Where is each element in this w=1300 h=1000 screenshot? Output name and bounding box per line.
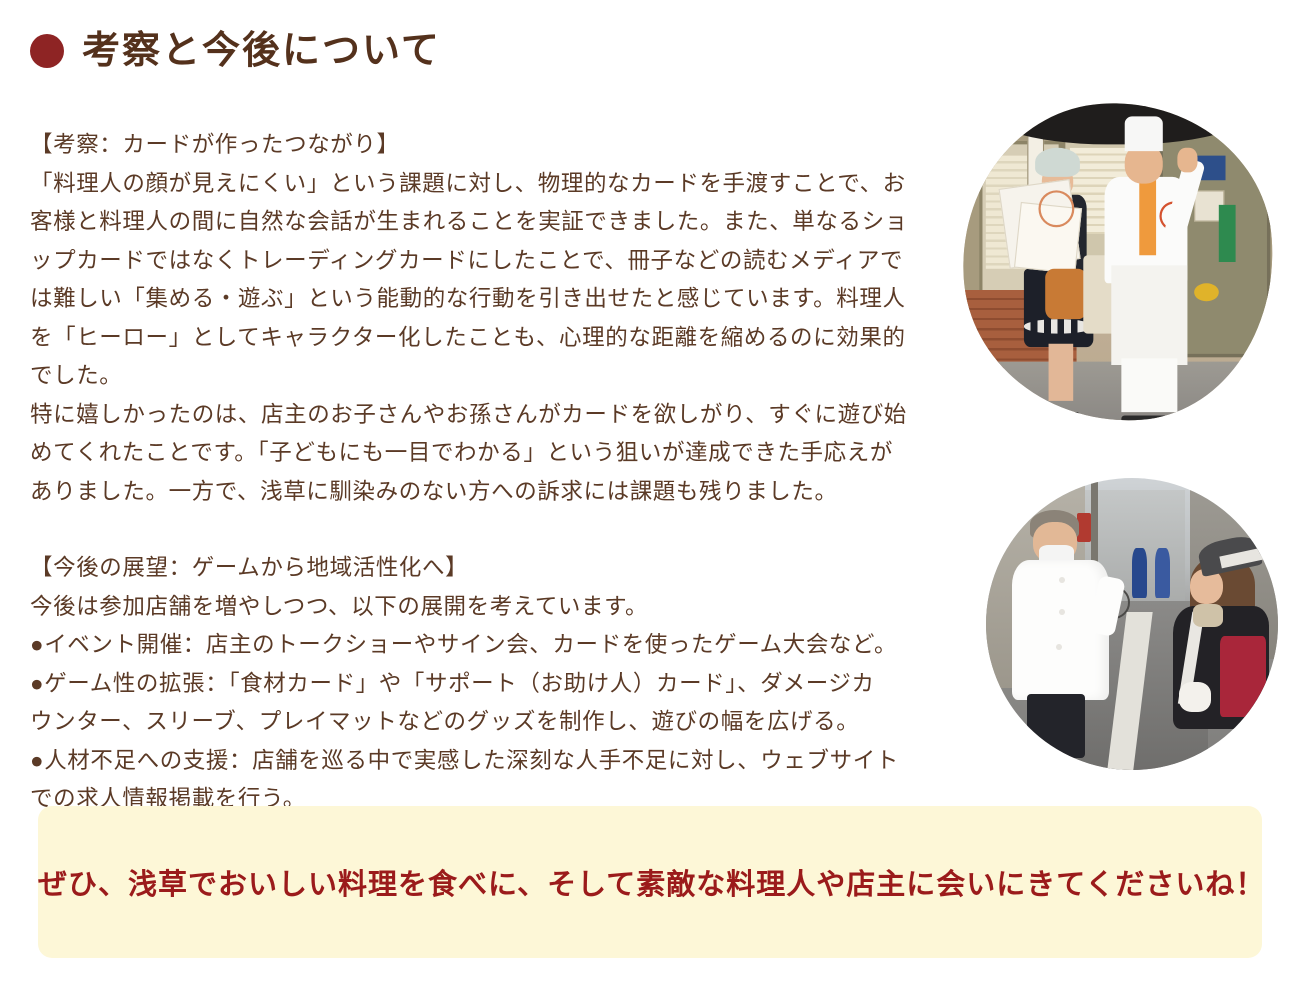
page-title: 考察と今後について xyxy=(30,32,441,70)
discussion-line: でした。 xyxy=(30,357,965,396)
discussion-line: を「ヒーロー」としてキャラクター化したことも、心理的な距離を縮めるのに効果的 xyxy=(30,319,965,358)
callout-text: ぜひ、浅草でおいしい料理を食べに、そして素敵な料理人や店主に会いにきてくださいね… xyxy=(38,861,1262,903)
discussion-line: ップカードではなくトレーディングカードにしたことで、冊子などの読むメディアで xyxy=(30,242,965,281)
outlook-line: 今後は参加店舗を増やしつつ、以下の展開を考えています。 xyxy=(30,588,965,627)
photo-shopfront-with-chef xyxy=(952,93,1283,432)
discussion-line: めてくれたことです。「子どもにも一目でわかる」という狙いが達成できた手応えが xyxy=(30,434,965,473)
discussion-line: ありました。一方で、浅草に馴染みのない方への訴求には課題も残りました。 xyxy=(30,473,965,512)
body-text-column: 【考察：カードが作ったつながり】 「料理人の顔が見えにくい」という課題に対し、物… xyxy=(30,126,965,819)
discussion-line: 「料理人の顔が見えにくい」という課題に対し、物理的なカードを手渡すことで、お xyxy=(30,165,965,204)
outlook-line: ●ゲーム性の拡張：「食材カード」や「サポート（お助け人）カード」、ダメージカ xyxy=(30,665,965,704)
outlook-heading: 【今後の展望：ゲームから地域活性化へ】 xyxy=(30,549,965,588)
outlook-line: ●人材不足への支援：店舗を巡る中で実感した深刻な人手不足に対し、ウェブサイト xyxy=(30,742,965,781)
outlook-line: ウンター、スリーブ、プレイマットなどのグッズを制作し、遊びの幅を広げる。 xyxy=(30,703,965,742)
callout-box: ぜひ、浅草でおいしい料理を食べに、そして素敵な料理人や店主に会いにきてくださいね… xyxy=(38,806,1262,958)
discussion-line: は難しい「集める・遊ぶ」という能動的な行動を引き出せたと感じています。料理人 xyxy=(30,280,965,319)
page-title-text: 考察と今後について xyxy=(82,32,441,70)
outlook-line: ●イベント開催：店主のトークショーやサイン会、カードを使ったゲーム大会など。 xyxy=(30,626,965,665)
discussion-heading: 【考察：カードが作ったつながり】 xyxy=(30,126,965,165)
discussion-line: 特に嬉しかったのは、店主のお子さんやお孫さんがカードを欲しがり、すぐに遊び始 xyxy=(30,396,965,435)
photo-alley-chef-and-woman xyxy=(986,478,1278,770)
paragraph-outlook: 【今後の展望：ゲームから地域活性化へ】 今後は参加店舗を増やしつつ、以下の展開を… xyxy=(30,549,965,819)
paragraph-discussion: 【考察：カードが作ったつながり】 「料理人の顔が見えにくい」という課題に対し、物… xyxy=(30,126,965,511)
bullet-icon xyxy=(30,34,64,68)
discussion-line: 客様と料理人の間に自然な会話が生まれることを実証できました。また、単なるショ xyxy=(30,203,965,242)
